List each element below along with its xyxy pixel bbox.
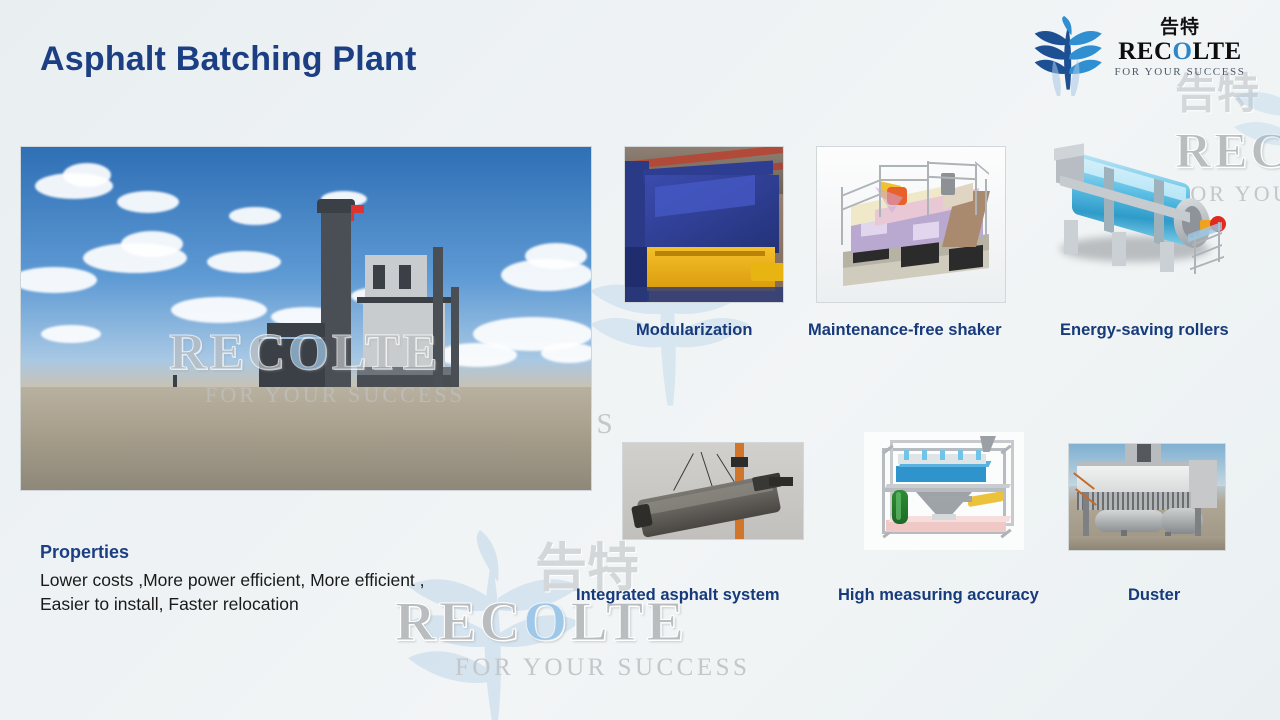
feature-caption-3: Integrated asphalt system xyxy=(576,586,780,605)
baghouse-duster-photo xyxy=(1068,443,1226,551)
drum-lifted-by-crane-photo xyxy=(622,442,804,540)
feature-caption-0: Modularization xyxy=(636,321,752,340)
leaf-watermark-bottom xyxy=(392,530,592,720)
rotary-drum-cad-render xyxy=(1042,142,1234,304)
leaf-icon xyxy=(1022,16,1108,96)
shaker-cad-render xyxy=(816,146,1006,303)
asphalt-batching-plant-photo: RECOLTE FOR YOUR SUCCESS xyxy=(20,146,592,491)
properties-line-1: Lower costs ,More power efficient, More … xyxy=(40,568,580,592)
watermark-tagline-bottom: FOR YOUR SUCCESS xyxy=(455,654,750,682)
properties-text: Lower costs ,More power efficient, More … xyxy=(40,568,580,616)
blue-yellow-mixer-photo xyxy=(624,146,784,303)
feature-caption-4: High measuring accuracy xyxy=(838,586,1039,605)
feature-caption-5: Duster xyxy=(1128,586,1180,605)
feature-caption-1: Maintenance-free shaker xyxy=(808,321,1002,340)
logo-cjk-text: 告特 xyxy=(1114,18,1246,38)
logo-o-glyph: O xyxy=(1173,38,1193,66)
properties-heading: Properties xyxy=(40,542,129,563)
logo-wordmark: RECOLTE xyxy=(1114,38,1246,66)
feature-caption-2: Energy-saving rollers xyxy=(1060,321,1229,340)
page-title: Asphalt Batching Plant xyxy=(40,40,417,79)
properties-line-2: Easier to install, Faster relocation xyxy=(40,592,580,616)
weighing-unit-cad-render xyxy=(864,432,1024,550)
logo-tagline: FOR YOUR SUCCESS xyxy=(1114,66,1246,78)
brand-logo: 告特 RECOLTE FOR YOUR SUCCESS xyxy=(1022,14,1272,98)
